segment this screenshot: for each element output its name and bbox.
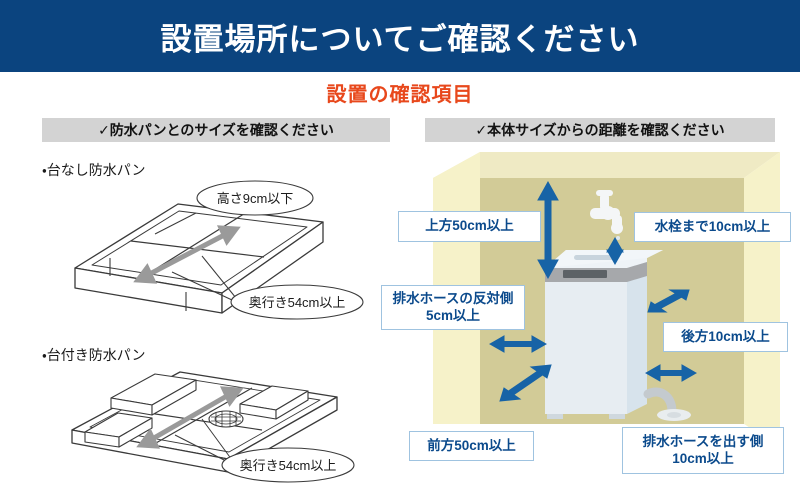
callout-hose-side-line1: 排水ホースを出す側 bbox=[643, 434, 764, 449]
callout-front-clearance-label: 前方50cm以上 bbox=[427, 438, 516, 454]
callout-hose-side-line2: 10cm以上 bbox=[672, 451, 734, 466]
callout-opposite-side-label: 排水ホースの反対側 5cm以上 bbox=[393, 291, 514, 324]
callout-box-faucet-clearance: 水栓まで10cm以上 bbox=[634, 212, 791, 242]
callout-hose-side-label: 排水ホースを出す側 10cm以上 bbox=[643, 434, 764, 467]
ceiling-surface bbox=[433, 152, 780, 178]
room-scene-illustration bbox=[0, 0, 800, 495]
machine-foot-right bbox=[609, 414, 625, 419]
callout-box-front-clearance: 前方50cm以上 bbox=[409, 431, 534, 461]
right-side-wall bbox=[744, 152, 780, 448]
callout-box-opposite-side: 排水ホースの反対側 5cm以上 bbox=[381, 285, 525, 330]
callout-box-rear-clearance: 後方10cm以上 bbox=[663, 322, 788, 352]
callout-rear-clearance-label: 後方10cm以上 bbox=[681, 329, 770, 345]
installation-guide-page: 設置場所についてご確認ください 設置の確認項目 ✓防水パンとのサイズを確認くださ… bbox=[0, 0, 800, 495]
machine-foot-left bbox=[547, 414, 563, 419]
callout-box-top-clearance: 上方50cm以上 bbox=[398, 211, 541, 242]
callout-box-hose-side: 排水ホースを出す側 10cm以上 bbox=[622, 427, 784, 474]
callout-opposite-side-line2: 5cm以上 bbox=[426, 308, 480, 323]
machine-front-face bbox=[545, 268, 627, 414]
lid-handle bbox=[574, 255, 616, 260]
control-panel-display bbox=[563, 270, 607, 278]
callout-top-clearance-label: 上方50cm以上 bbox=[425, 218, 514, 234]
callout-opposite-side-line1: 排水ホースの反対側 bbox=[393, 291, 514, 306]
machine-side-face bbox=[627, 258, 647, 414]
callout-faucet-clearance-label: 水栓まで10cm以上 bbox=[655, 219, 771, 235]
